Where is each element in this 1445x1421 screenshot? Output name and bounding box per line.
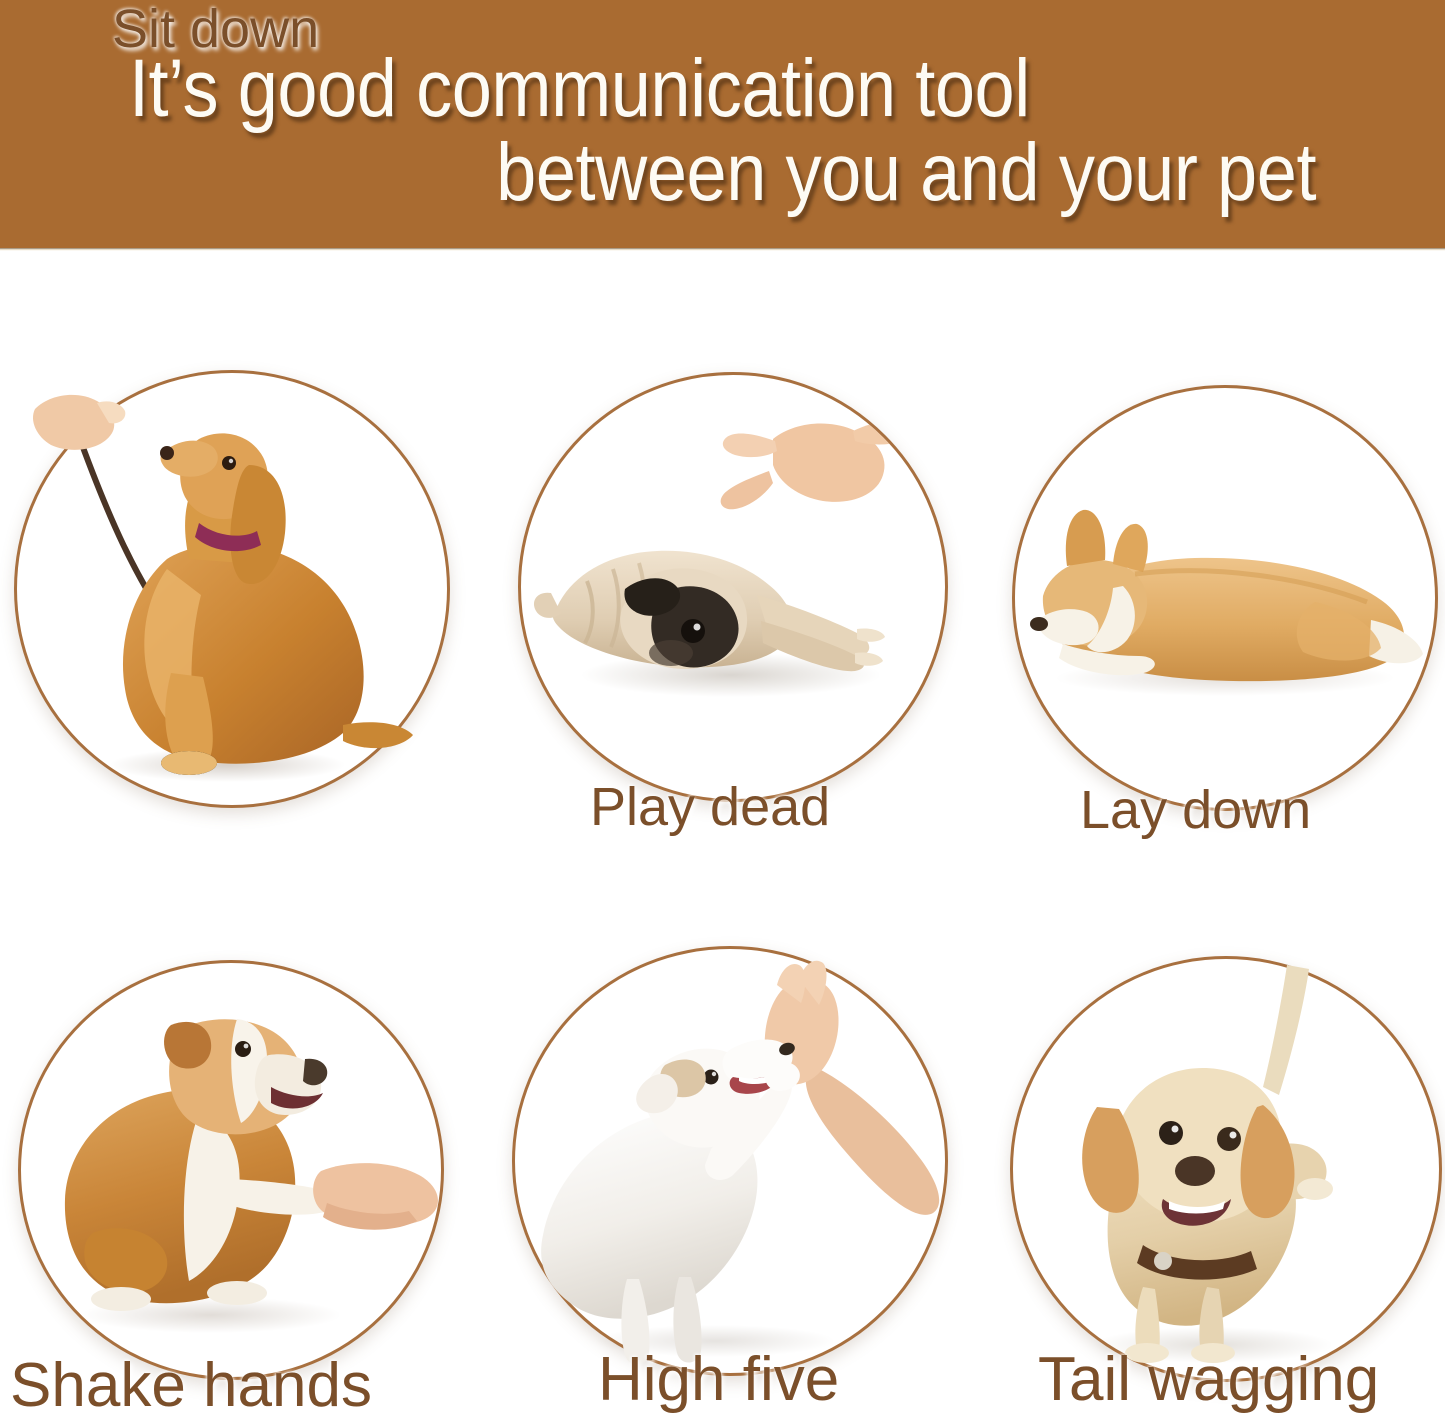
circle-frame-shake-hands [18,960,444,1380]
circle-frame-tail-wagging [1010,956,1442,1382]
caption-sit-down: Sit down [112,0,319,60]
circle-frame-play-dead [518,372,948,802]
card-play-dead: Play dead [518,372,958,852]
caption-shake-hands: Shake hands [10,1350,372,1421]
card-lay-down: Lay down [1012,385,1445,855]
illustration-bulldog-shaking-hands [21,963,441,1377]
caption-high-five: High five [598,1344,839,1415]
caption-play-dead: Play dead [590,776,830,838]
caption-tail-wagging: Tail wagging [1038,1344,1379,1415]
illustration-terrier-high-five [515,949,945,1373]
card-sit-down: Sit down [14,370,454,850]
photo-tail-wagging [1013,959,1439,1379]
photo-lay-down [1015,388,1435,808]
photo-high-five [515,949,945,1373]
circle-frame-lay-down [1012,385,1438,811]
banner-underline-divider [0,248,1445,251]
illustration-dachshund-tail-wagging [1013,959,1439,1379]
banner-headline-line-2: between you and your pet [113,131,1332,215]
illustration-cocker-spaniel-sitting [17,373,447,805]
card-tail-wagging: Tail wagging [1010,956,1445,1406]
photo-shake-hands [21,963,441,1377]
illustration-pug-playing-dead [521,375,945,799]
photo-play-dead [521,375,945,799]
card-high-five: High five [512,946,952,1406]
circle-frame-sit-down [14,370,450,808]
photo-sit-down [17,373,447,805]
card-shake-hands: Shake hands [18,960,458,1410]
illustration-corgi-lying-down [1015,388,1435,808]
caption-lay-down: Lay down [1080,779,1311,841]
circle-frame-high-five [512,946,948,1376]
